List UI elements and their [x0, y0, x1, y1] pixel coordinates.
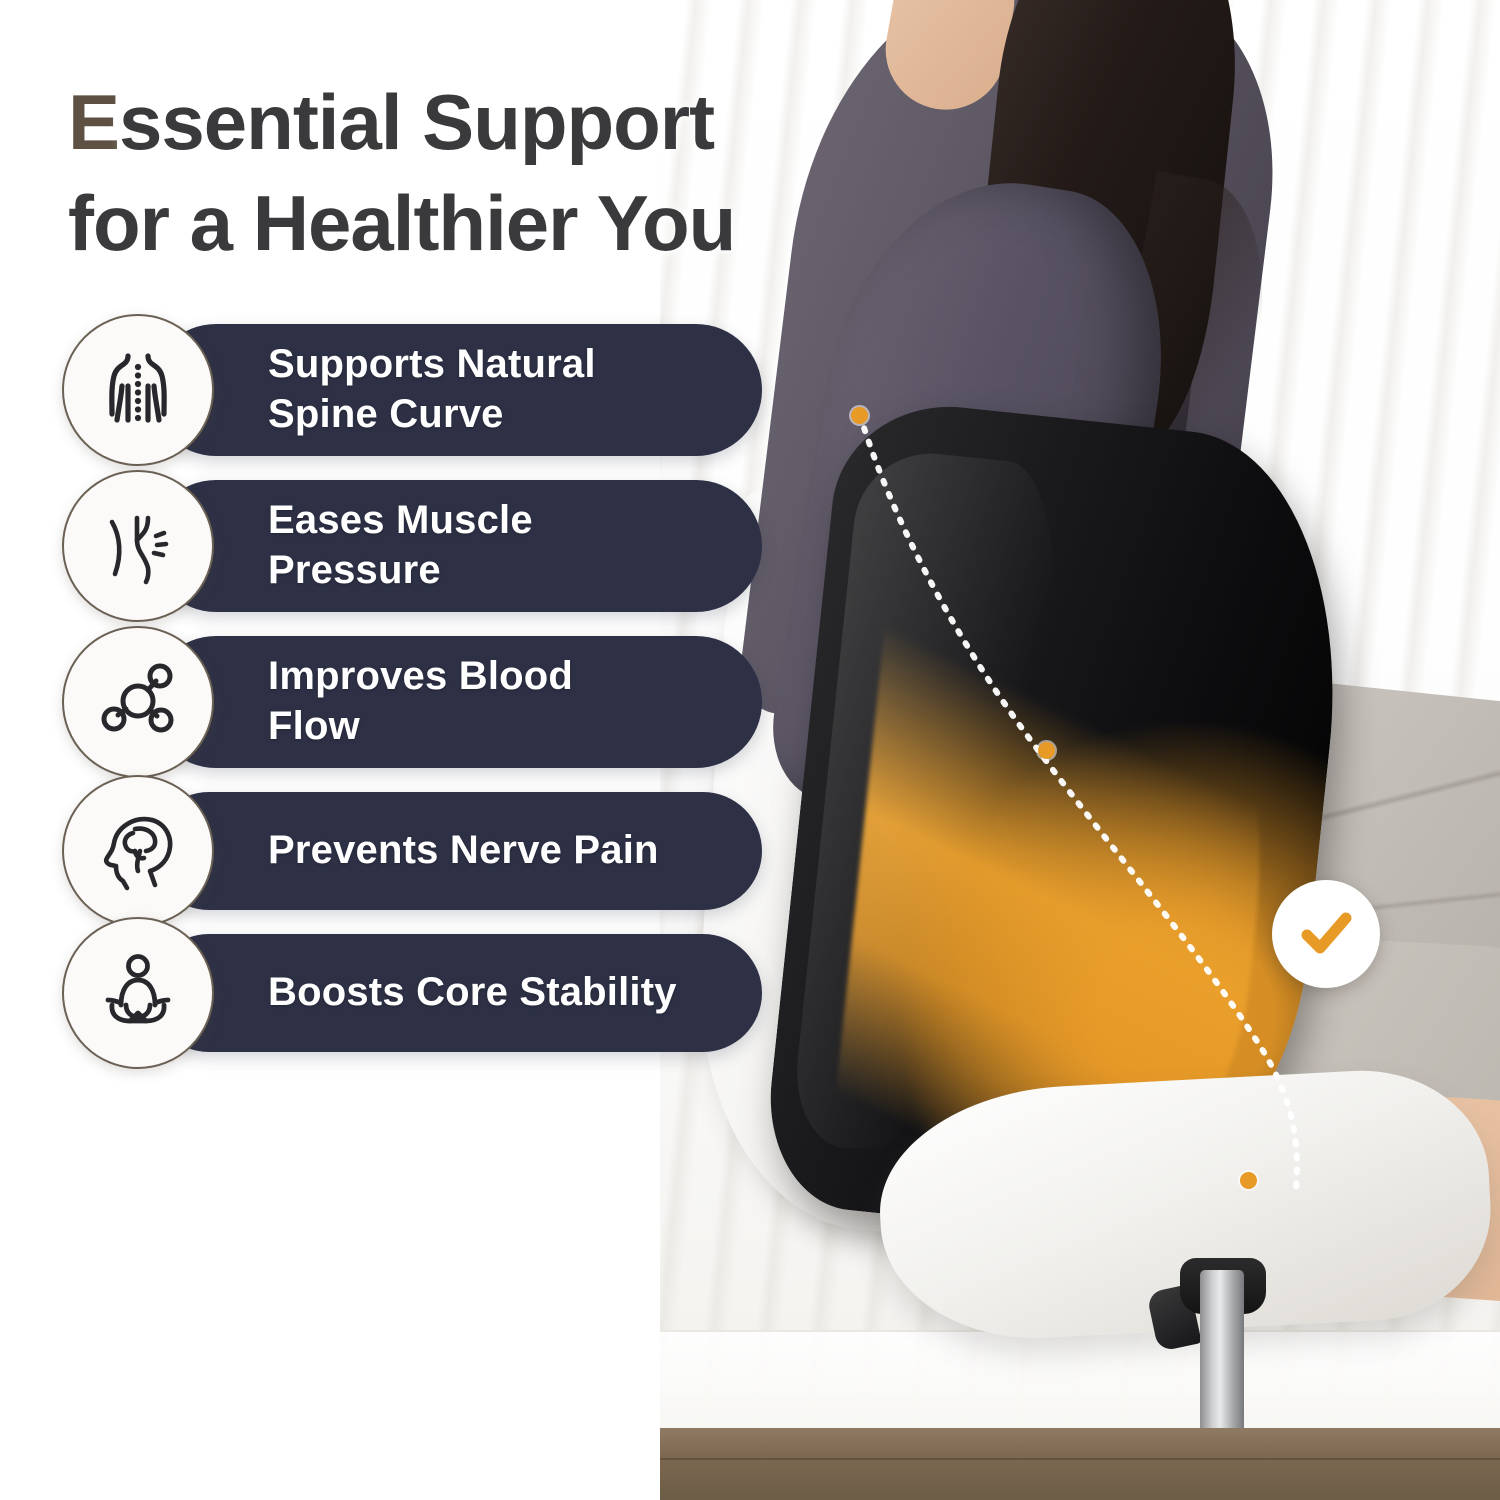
contour-marker-bottom: [1240, 1172, 1257, 1189]
orange-check-icon: [1291, 899, 1361, 969]
feature-label: Prevents Nerve Pain: [268, 826, 659, 876]
feature-label: Supports Natural Spine Curve: [268, 340, 596, 439]
feature-label: Improves Blood Flow: [268, 652, 573, 751]
feature-item-muscle[interactable]: Eases Muscle Pressure: [62, 480, 762, 612]
curtain-hem: [660, 1330, 1500, 1435]
blood-molecule-icon: [62, 626, 214, 778]
feature-item-spine[interactable]: Supports Natural Spine Curve: [62, 324, 762, 456]
contour-marker-middle: [1038, 742, 1055, 759]
headline-rest: ssential Support for a Healthier You: [68, 78, 735, 267]
feature-item-nerve-pain[interactable]: Prevents Nerve Pain: [62, 792, 762, 910]
meditation-lotus-icon: [62, 917, 214, 1069]
content-panel: Essential Support for a Healthier You Su…: [0, 0, 760, 1500]
floor-seam: [660, 1458, 1500, 1460]
page-title: Essential Support for a Healthier You: [68, 72, 948, 275]
feature-pill[interactable]: Boosts Core Stability: [150, 934, 762, 1052]
feature-label: Eases Muscle Pressure: [268, 496, 533, 595]
feature-label: Boosts Core Stability: [268, 968, 677, 1018]
wood-floor: [660, 1428, 1500, 1500]
head-brain-icon: [62, 775, 214, 927]
feature-list: Supports Natural Spine Curve: [62, 324, 762, 1076]
feature-item-core-stability[interactable]: Boosts Core Stability: [62, 934, 762, 1052]
product-feature-graphic: Essential Support for a Healthier You Su…: [0, 0, 1500, 1500]
feature-item-blood-flow[interactable]: Improves Blood Flow: [62, 636, 762, 768]
check-badge: [1272, 880, 1380, 988]
headline-initial: E: [68, 78, 119, 166]
feature-pill[interactable]: Prevents Nerve Pain: [150, 792, 762, 910]
feature-pill[interactable]: Improves Blood Flow: [150, 636, 762, 768]
contour-marker-top: [851, 407, 868, 424]
feature-pill[interactable]: Eases Muscle Pressure: [150, 480, 762, 612]
feature-pill[interactable]: Supports Natural Spine Curve: [150, 324, 762, 456]
spine-posture-icon: [62, 314, 214, 466]
nerve-relief-icon: [62, 470, 214, 622]
